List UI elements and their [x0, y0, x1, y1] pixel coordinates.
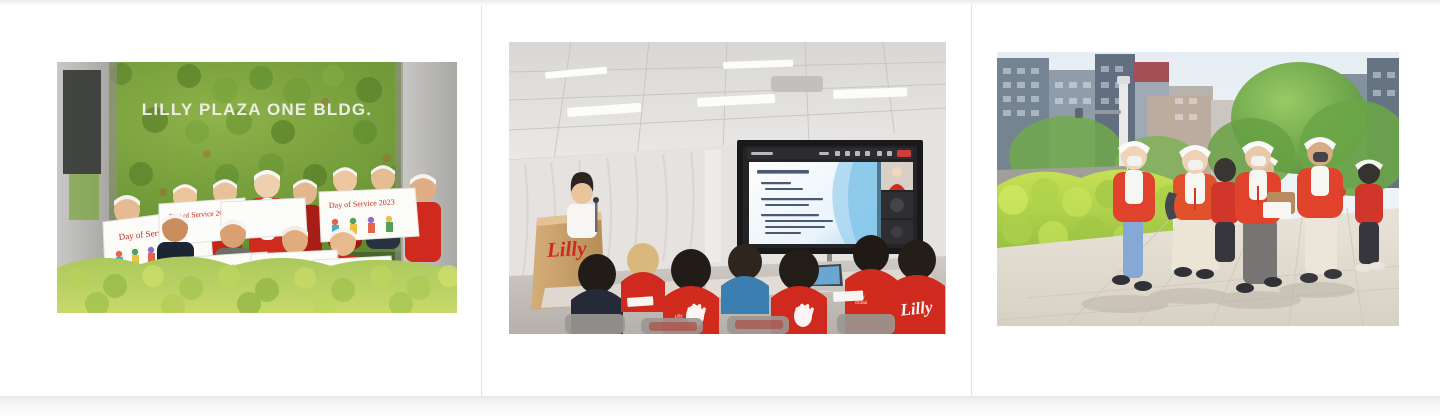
gallery-row: LILLY PLAZA ONE BLDG. — [0, 5, 1440, 397]
photo-gallery-section: LILLY PLAZA ONE BLDG. — [0, 0, 1440, 419]
gallery-column-2: Lilly — [481, 5, 971, 397]
svg-text:Lilly: Lilly — [898, 297, 933, 319]
gallery-column-1: LILLY PLAZA ONE BLDG. — [0, 5, 481, 397]
gallery-image-1[interactable]: LILLY PLAZA ONE BLDG. — [57, 62, 457, 313]
gallery-image-2[interactable]: Lilly — [509, 42, 946, 334]
column-divider-1 — [481, 5, 482, 397]
gallery-column-3 — [971, 5, 1440, 397]
svg-text:LILLY PLAZA ONE BLDG.: LILLY PLAZA ONE BLDG. — [142, 100, 372, 119]
section-bottom-edge — [0, 396, 1440, 419]
column-divider-2 — [971, 5, 972, 397]
gallery-image-3[interactable] — [997, 52, 1399, 326]
svg-text:Lilly: Lilly — [545, 236, 588, 262]
